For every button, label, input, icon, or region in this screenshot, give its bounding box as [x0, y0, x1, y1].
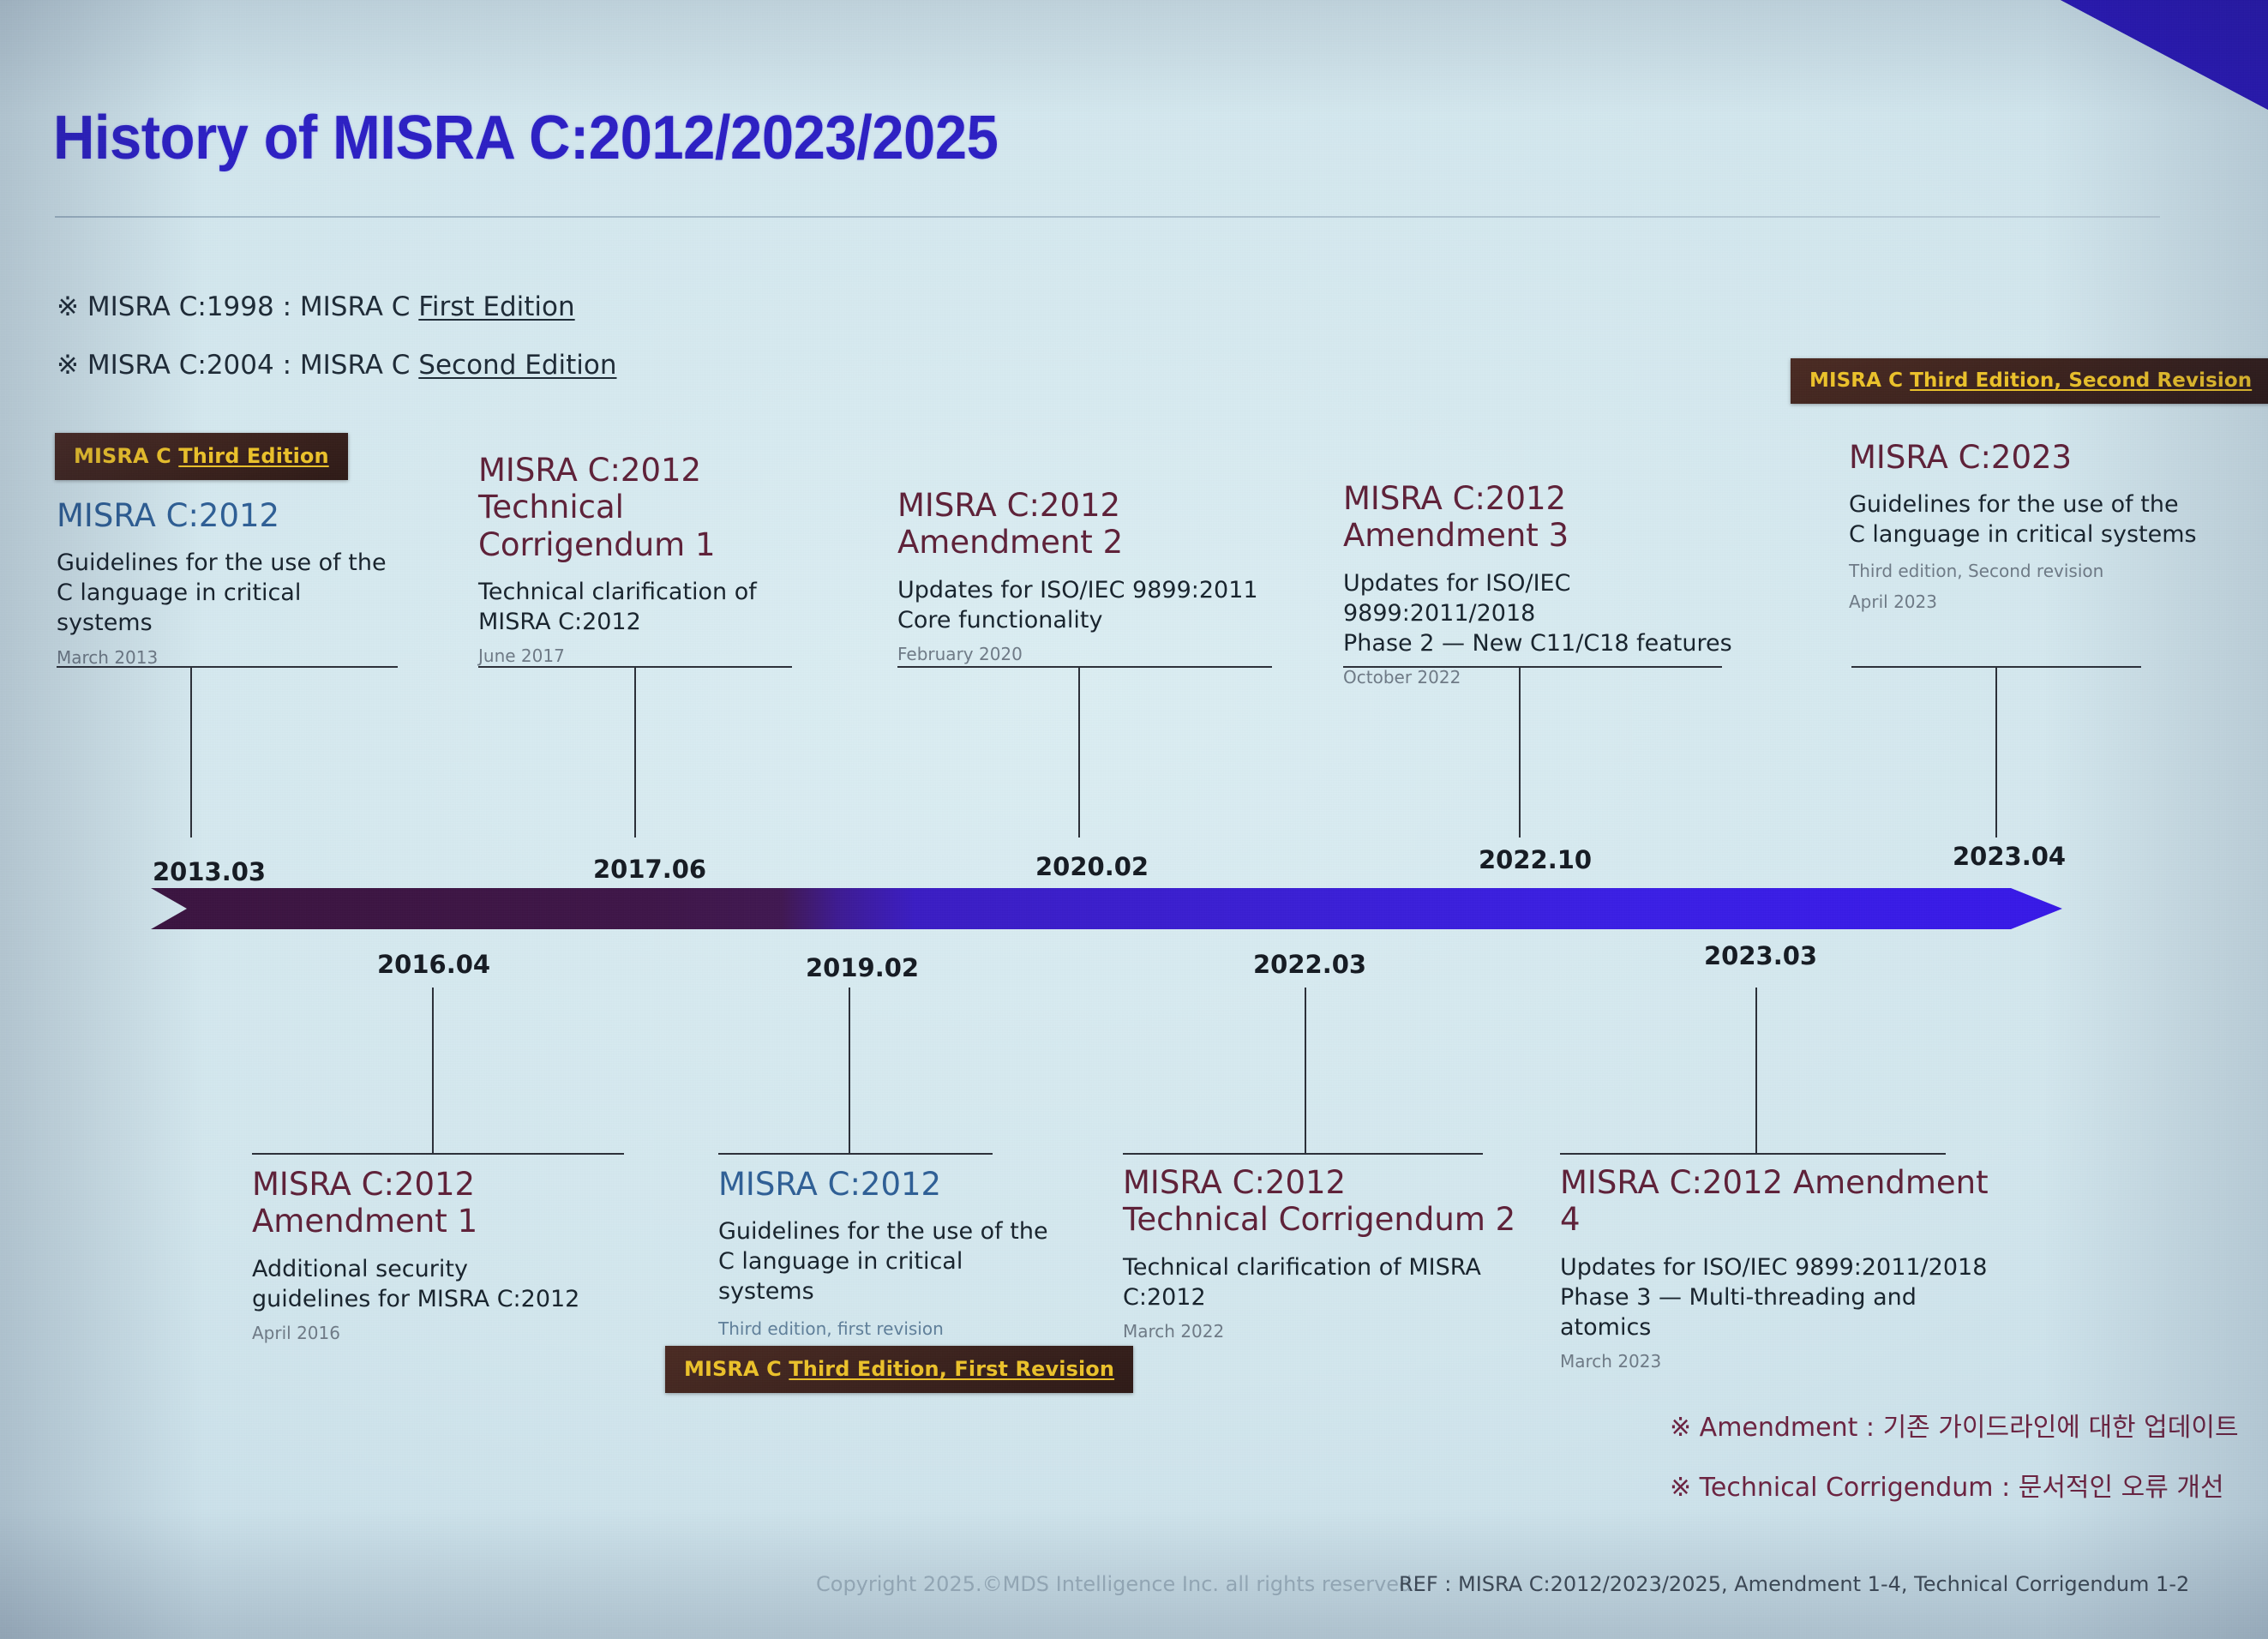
milestone-sub: Third edition, Second revision — [1849, 560, 2209, 583]
badge-first-revision-prefix: MISRA C — [684, 1357, 789, 1381]
milestone-below-2022: MISRA C:2012 Technical Corrigendum 2 Tec… — [1123, 1164, 1526, 1342]
milestone-title: MISRA C:2012 Technical Corrigendum 2 — [1123, 1164, 1526, 1239]
badge-third-edition-underlined: Third Edition — [178, 444, 328, 468]
milestone-body: Technical clarification of MISRA C:2012 — [1123, 1252, 1526, 1312]
footer-reference: REF : MISRA C:2012/2023/2025, Amendment … — [1399, 1572, 2189, 1596]
milestone-date: March 2013 — [57, 647, 399, 668]
axis-label-2022-03: 2022.03 — [1253, 950, 1366, 979]
connector-stem — [1755, 988, 1757, 1155]
top-note-2004-prefix: ※ MISRA C:2004 : MISRA C — [57, 350, 418, 381]
connector-rule — [252, 1153, 624, 1155]
milestone-title: MISRA C:2012 — [57, 497, 399, 534]
milestone-sub: Third edition, first revision — [718, 1318, 1061, 1341]
timeline-arrow-bar — [151, 888, 2062, 929]
milestone-body: Updates for ISO/IEC 9899:2011/2018 Phase… — [1560, 1252, 1989, 1342]
connector-rule — [1123, 1153, 1483, 1155]
connector-stem — [432, 988, 434, 1155]
milestone-below-2016: MISRA C:2012 Amendment 1 Additional secu… — [252, 1166, 638, 1343]
connector-stem — [190, 666, 192, 838]
axis-label-2020-02: 2020.02 — [1035, 852, 1149, 881]
milestone-date: April 2016 — [252, 1323, 638, 1343]
connector-stem — [1078, 666, 1080, 838]
milestone-above-2023: MISRA C:2023 Guidelines for the use of t… — [1849, 439, 2209, 612]
milestone-body: Updates for ISO/IEC 9899:2011 Core funct… — [897, 575, 1283, 635]
photo-vignette-overlay — [0, 0, 2268, 1639]
milestone-date: October 2022 — [1343, 667, 1737, 687]
milestone-body: Technical clarification of MISRA C:2012 — [478, 577, 821, 637]
milestone-date: June 2017 — [478, 645, 821, 666]
axis-label-2013-03: 2013.03 — [153, 857, 266, 886]
axis-label-2019-02: 2019.02 — [806, 953, 919, 982]
connector-stem — [1519, 666, 1521, 838]
slide-canvas: History of MISRA C:2012/2023/2025 ※ MISR… — [0, 0, 2268, 1639]
badge-third-edition-second-revision: MISRA C Third Edition, Second Revision — [1791, 358, 2268, 404]
axis-label-2016-04: 2016.04 — [377, 950, 490, 979]
milestone-above-2013: MISRA C:2012 Guidelines for the use of t… — [57, 497, 399, 668]
milestone-body: Additional security guidelines for MISRA… — [252, 1254, 638, 1314]
connector-stem — [634, 666, 636, 838]
connector-rule — [718, 1153, 993, 1155]
badge-third-edition-first-revision: MISRA C Third Edition, First Revision — [665, 1346, 1133, 1393]
milestone-date: February 2020 — [897, 644, 1283, 664]
footer-copyright: Copyright 2025.©MDS Intelligence Inc. al… — [816, 1572, 1419, 1596]
connector-stem — [849, 988, 850, 1155]
milestone-below-2023: MISRA C:2012 Amendment 4 Updates for ISO… — [1560, 1164, 1989, 1372]
top-note-2004-underlined: Second Edition — [418, 350, 616, 381]
badge-third-edition: MISRA C Third Edition — [55, 433, 348, 480]
milestone-below-2019: MISRA C:2012 Guidelines for the use of t… — [718, 1166, 1061, 1370]
connector-rule — [897, 666, 1272, 668]
milestone-body: Guidelines for the use of the C language… — [1849, 489, 2209, 549]
top-note-1998-prefix: ※ MISRA C:1998 : MISRA C — [57, 291, 418, 322]
legend-amendment: ※ Amendment : 기존 가이드라인에 대한 업데이트 — [1670, 1406, 2239, 1444]
top-note-1998-underlined: First Edition — [418, 291, 574, 322]
badge-third-edition-prefix: MISRA C — [74, 444, 178, 468]
milestone-title: MISRA C:2012 Amendment 2 — [897, 487, 1283, 561]
milestone-title: MISRA C:2012 Amendment 1 — [252, 1166, 638, 1240]
axis-label-2023-04: 2023.04 — [1953, 842, 2066, 871]
milestone-body: Updates for ISO/IEC 9899:2011/2018 Phase… — [1343, 568, 1737, 658]
top-note-2004: ※ MISRA C:2004 : MISRA C Second Edition — [57, 350, 617, 381]
milestone-title: MISRA C:2012 Amendment 4 — [1560, 1164, 1989, 1239]
milestone-above-2017: MISRA C:2012 Technical Corrigendum 1 Tec… — [478, 452, 821, 666]
badge-second-revision-prefix: MISRA C — [1809, 369, 1910, 392]
corner-wedge-decoration — [1959, 0, 2268, 110]
axis-label-2023-03: 2023.03 — [1704, 941, 1817, 970]
milestone-date: March 2023 — [1560, 1351, 1989, 1372]
milestone-body: Guidelines for the use of the C language… — [57, 548, 399, 638]
connector-stem — [1305, 988, 1306, 1155]
legend-technical-corrigendum: ※ Technical Corrigendum : 문서적인 오류 개선 — [1670, 1466, 2224, 1504]
milestone-title: MISRA C:2023 — [1849, 439, 2209, 476]
axis-label-2022-10: 2022.10 — [1479, 845, 1592, 874]
milestone-body: Guidelines for the use of the C language… — [718, 1216, 1061, 1306]
title-divider — [55, 216, 2160, 218]
badge-second-revision-underlined: Third Edition, Second Revision — [1910, 369, 2252, 392]
page-title: History of MISRA C:2012/2023/2025 — [53, 103, 998, 173]
milestone-title: MISRA C:2012 — [718, 1166, 1061, 1203]
axis-label-2017-06: 2017.06 — [593, 855, 706, 884]
badge-first-revision-underlined: Third Edition, First Revision — [789, 1357, 1114, 1381]
milestone-above-2020: MISRA C:2012 Amendment 2 Updates for ISO… — [897, 487, 1283, 664]
milestone-date: March 2022 — [1123, 1321, 1526, 1342]
top-note-1998: ※ MISRA C:1998 : MISRA C First Edition — [57, 291, 575, 322]
milestone-above-2022: MISRA C:2012 Amendment 3 Updates for ISO… — [1343, 480, 1737, 687]
connector-stem — [1995, 666, 1997, 838]
connector-rule — [1560, 1153, 1946, 1155]
milestone-title: MISRA C:2012 Technical Corrigendum 1 — [478, 452, 821, 563]
photo-grain-overlay — [0, 0, 2268, 1639]
milestone-date: April 2023 — [1849, 591, 2209, 612]
milestone-title: MISRA C:2012 Amendment 3 — [1343, 480, 1737, 555]
